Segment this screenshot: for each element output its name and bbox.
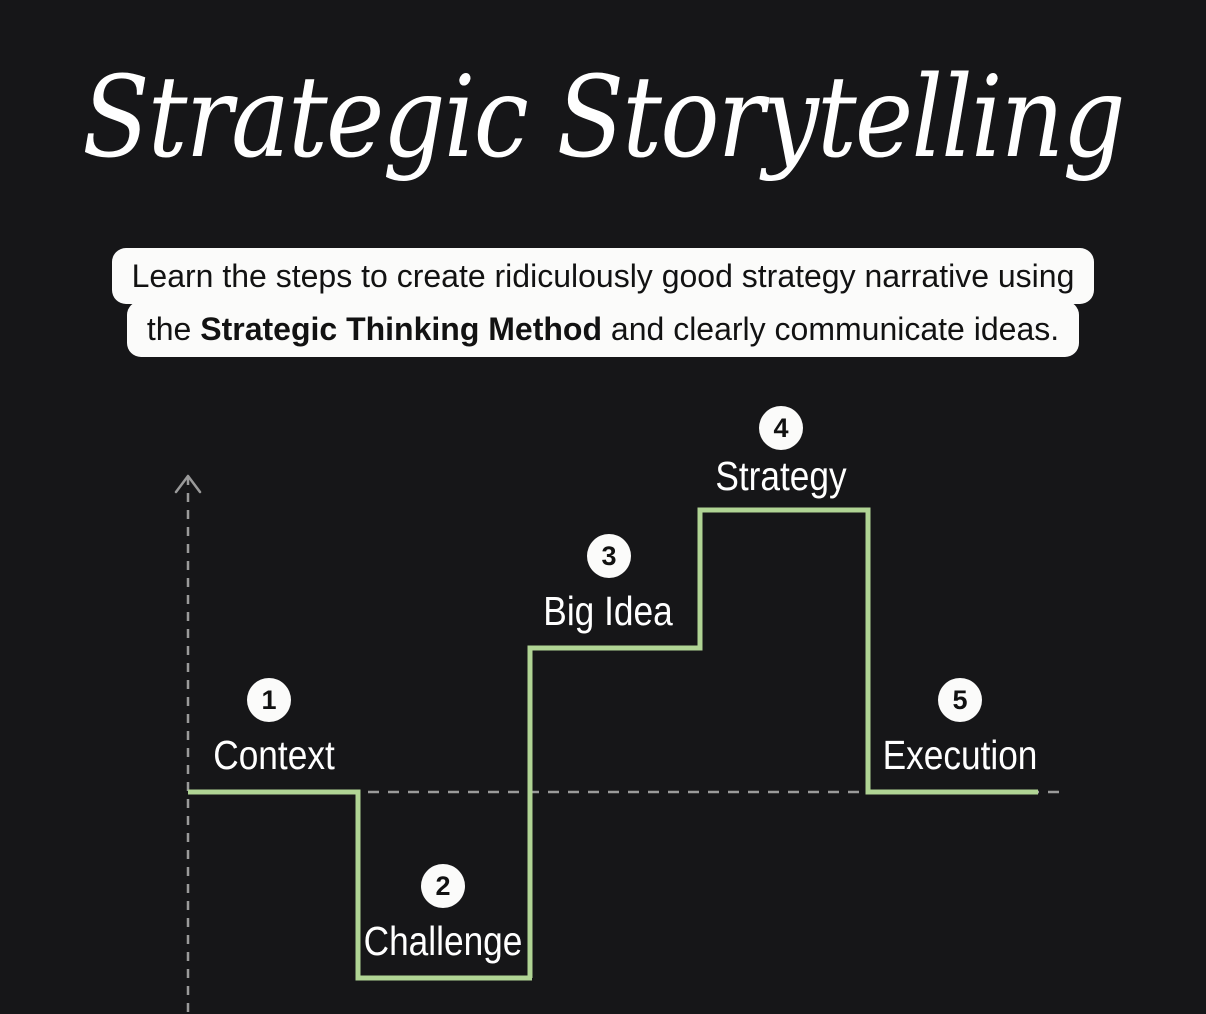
step-badge-challenge[interactable]: 2	[421, 864, 465, 908]
strategy-step-chart: 1Context2Challenge3Big Idea4Strategy5Exe…	[0, 0, 1206, 1014]
step-label-execution: Execution	[883, 733, 1038, 777]
step-label-challenge: Challenge	[364, 919, 523, 963]
step-badge-execution[interactable]: 5	[938, 678, 982, 722]
step-label-big-idea: Big Idea	[543, 589, 672, 633]
step-label-context: Context	[213, 733, 335, 777]
chart-svg	[0, 0, 1206, 1014]
step-badge-big-idea[interactable]: 3	[587, 534, 631, 578]
step-label-strategy: Strategy	[715, 454, 846, 498]
step-badge-context[interactable]: 1	[247, 678, 291, 722]
step-badge-strategy[interactable]: 4	[759, 406, 803, 450]
